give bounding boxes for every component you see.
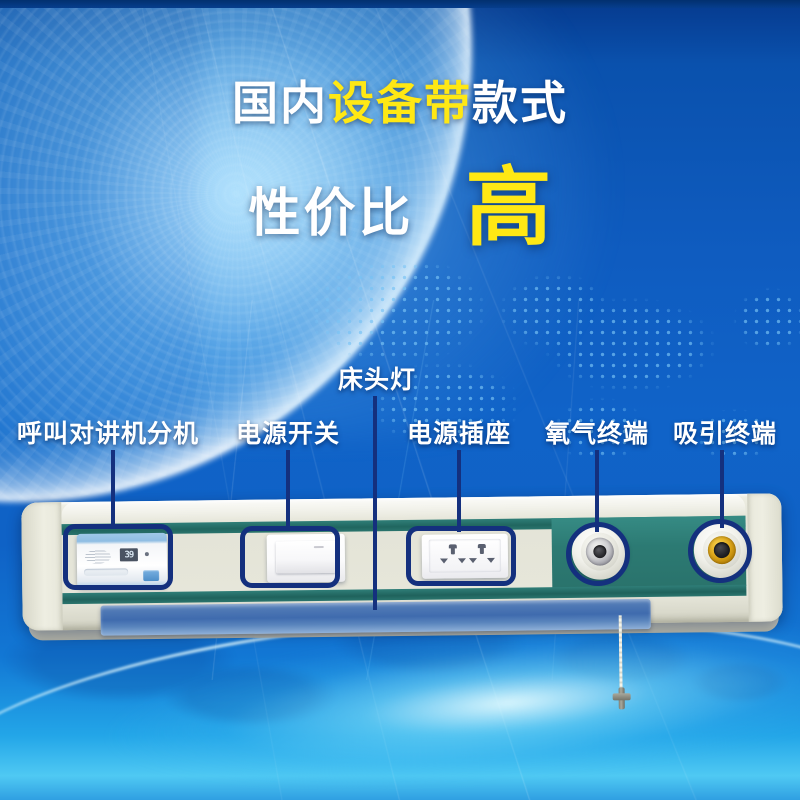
callout-label-power-socket: 电源插座 — [407, 414, 511, 450]
leader-line-bed-lamp — [373, 396, 377, 610]
headline-line-1: 国内设备带款式 — [0, 78, 800, 129]
leader-line-oxygen-terminal — [595, 450, 599, 532]
headline-line1-part2: 款式 — [472, 76, 568, 130]
callout-label-suction-terminal: 吸引终端 — [673, 414, 777, 450]
headline-line-2: 性价比 — [248, 171, 413, 246]
callout-label-oxygen-terminal: 氧气终端 — [545, 414, 649, 450]
leader-line-power-switch — [286, 450, 290, 530]
leader-line-suction-terminal — [720, 450, 724, 528]
leader-line-power-socket — [457, 450, 461, 532]
headline-big-char: 高 — [466, 168, 552, 250]
headline-line-2-row: 性价比 高 — [0, 168, 800, 250]
poster-canvas: 国内设备带款式 性价比 高 呼叫对讲机分机 电源开关 床头灯 电源插座 氧气终端… — [0, 0, 800, 800]
callout-label-intercom: 呼叫对讲机分机 — [17, 414, 199, 450]
headline-line1-highlight: 设备带 — [328, 76, 472, 130]
callout-label-bed-lamp: 床头灯 — [338, 360, 416, 396]
headline-line1-part1: 国内 — [232, 76, 328, 130]
headline-block: 国内设备带款式 性价比 高 — [0, 78, 800, 129]
callout-label-power-switch: 电源开关 — [236, 414, 340, 450]
leader-line-intercom — [111, 450, 115, 528]
